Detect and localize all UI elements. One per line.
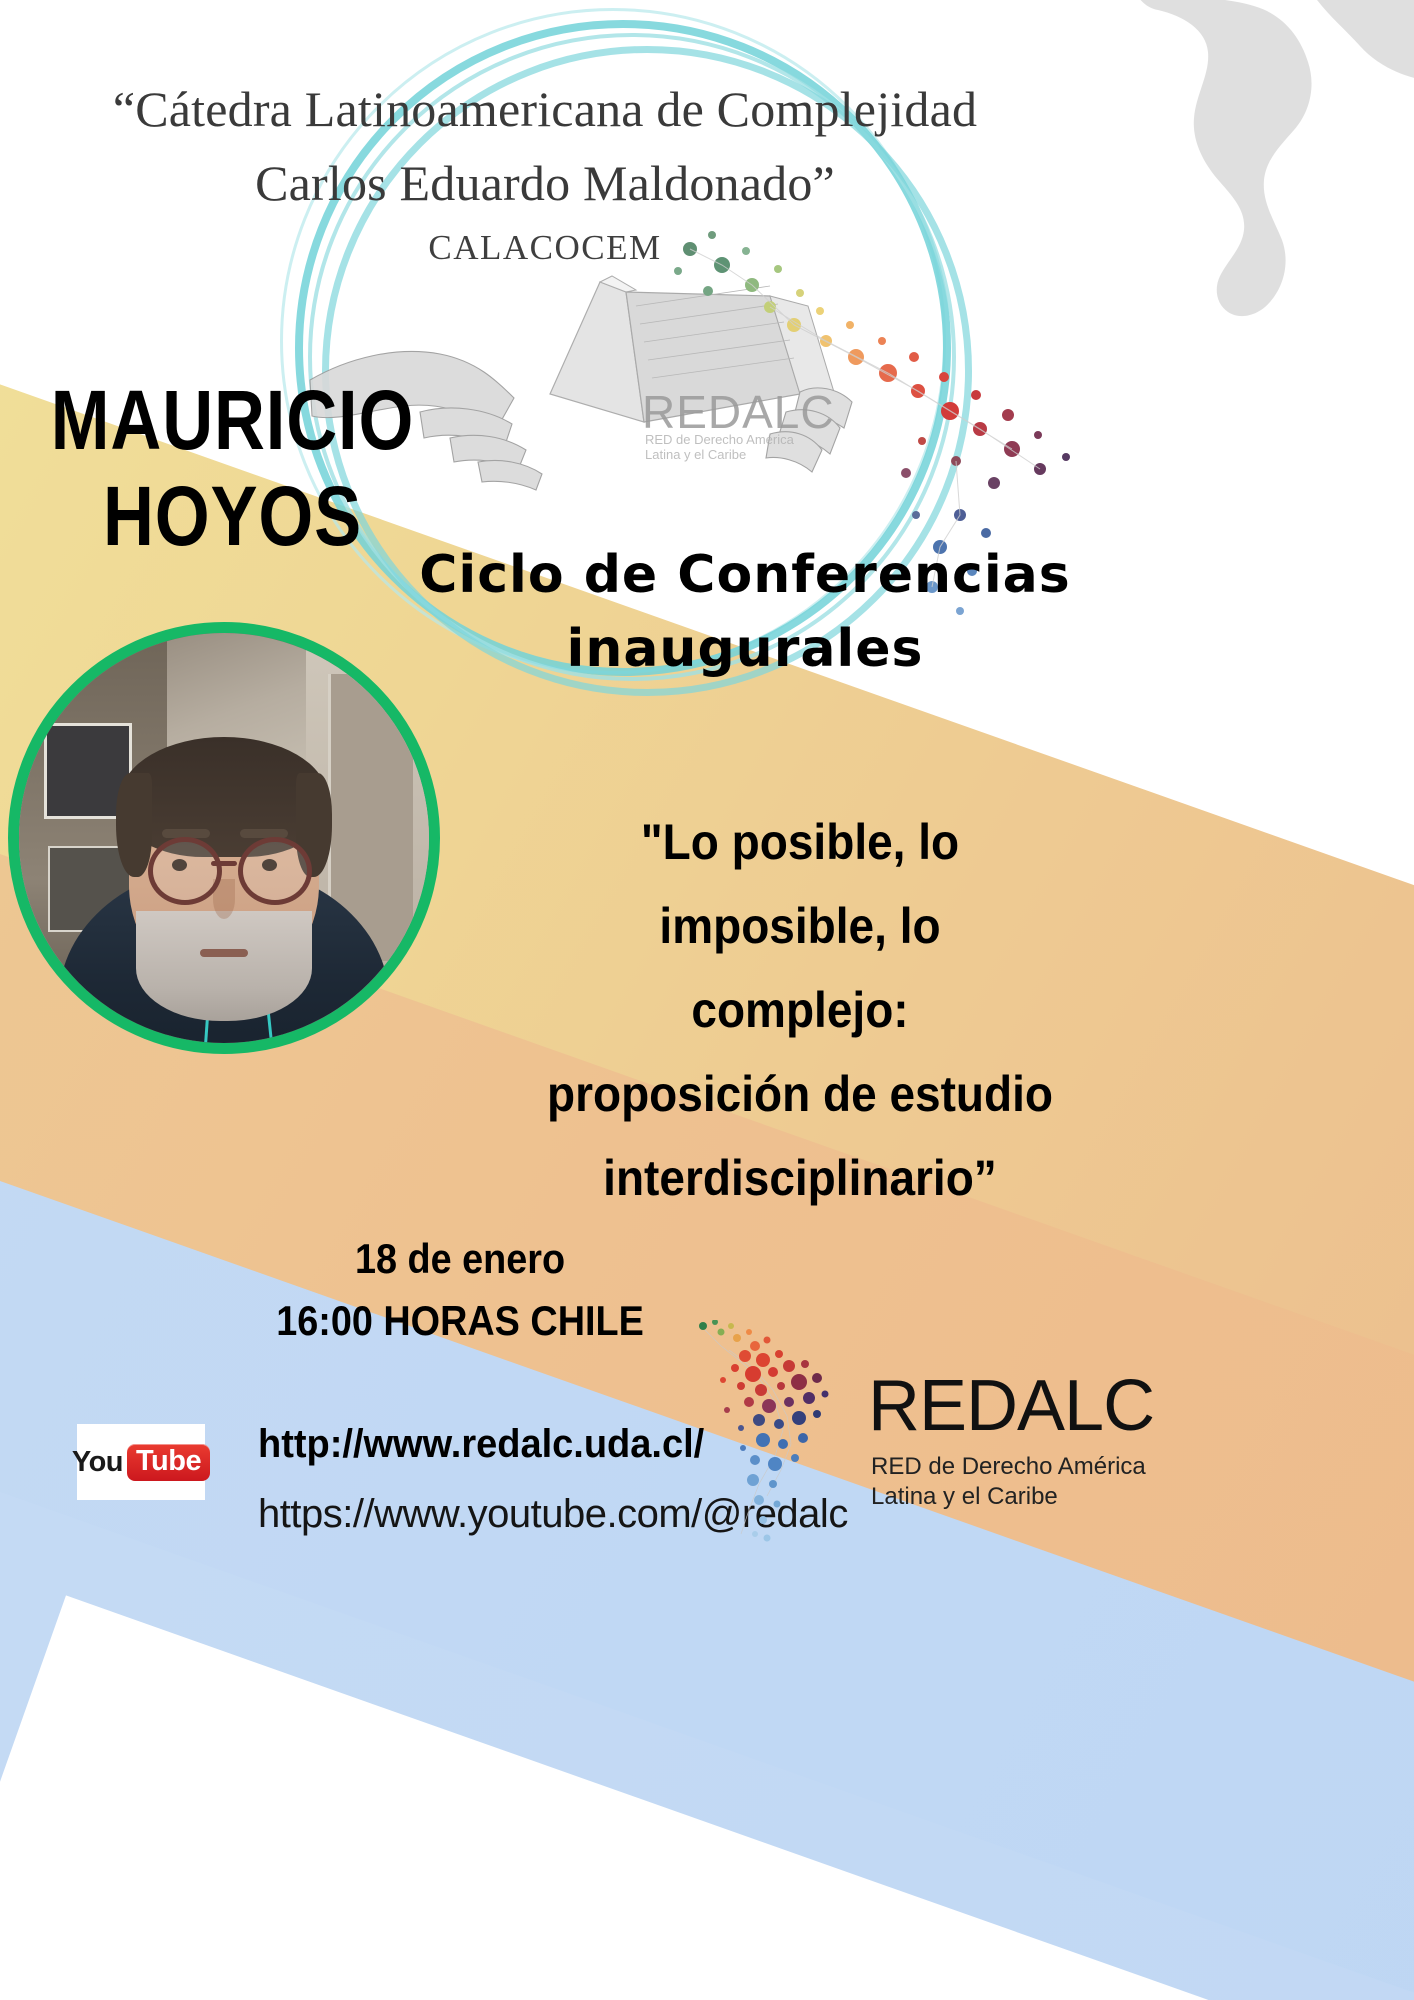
talk-title-line3: proposición de estudio: [524, 1052, 1076, 1136]
redalc-tagline-line2: Latina y el Caribe: [871, 1483, 1058, 1510]
website-url-link[interactable]: http://www.redalc.uda.cl/: [258, 1422, 704, 1467]
conference-series-heading: Ciclo de Conferencias inaugurales: [415, 538, 1075, 686]
series-line2: inaugurales: [415, 612, 1075, 686]
speaker-last-name: HOYOS: [37, 468, 428, 564]
speaker-first-name: MAURICIO: [51, 373, 414, 467]
speaker-name: MAURICIO HOYOS: [37, 372, 428, 564]
event-schedule: 18 de enero 16:00 HORAS CHILE: [253, 1228, 667, 1352]
youtube-logo-you-text: You: [72, 1446, 123, 1479]
portrait-hair-left: [116, 773, 152, 877]
portrait-beard: [136, 911, 312, 1021]
portrait-mouth: [200, 949, 248, 957]
speaker-portrait-avatar: [8, 622, 440, 1054]
conference-poster: “Cátedra Latinoamericana de Complejidad …: [0, 0, 1414, 2000]
redalc-brand-tagline: RED de Derecho América Latina y el Carib…: [871, 1452, 1146, 1512]
talk-title-line1: "Lo posible, lo imposible, lo: [524, 800, 1076, 968]
talk-title-line4: interdisciplinario”: [524, 1136, 1076, 1220]
portrait-glasses-right-lens: [238, 837, 312, 905]
portrait-glasses-bridge: [211, 861, 237, 866]
redalc-footer-logo: REDALC RED de Derecho América Latina y e…: [663, 1320, 1393, 1550]
redalc-dot-map-icon: [663, 1320, 873, 1550]
talk-title: "Lo posible, lo imposible, lo complejo: …: [524, 800, 1076, 1220]
talk-title-line2: complejo:: [524, 968, 1076, 1052]
redalc-tagline-line1: RED de Derecho América: [871, 1453, 1146, 1480]
event-date: 18 de enero: [253, 1228, 667, 1290]
portrait-glasses-left-lens: [148, 837, 222, 905]
americas-map-silhouette-icon: [1124, 0, 1414, 320]
youtube-logo-badge[interactable]: You Tube: [77, 1424, 205, 1500]
chair-title-line1: “Cátedra Latinoamericana de Complejidad: [0, 78, 1090, 140]
chair-title-line2: Carlos Eduardo Maldonado”: [0, 152, 1090, 214]
event-time: 16:00 HORAS CHILE: [253, 1290, 667, 1352]
redalc-brand-name: REDALC: [868, 1370, 1154, 1442]
youtube-logo-tube-text: Tube: [127, 1444, 210, 1481]
series-line1: Ciclo de Conferencias: [419, 545, 1070, 605]
